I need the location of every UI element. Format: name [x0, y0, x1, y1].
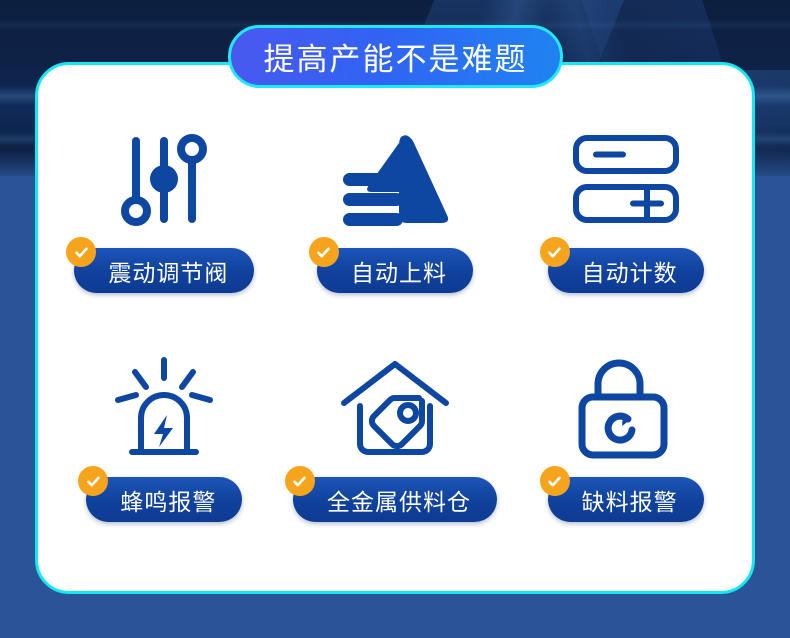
check-icon — [285, 466, 315, 496]
feature-item-auto-feeding[interactable]: 自动上料 — [280, 114, 511, 343]
feature-label: 自动上料 — [351, 254, 447, 288]
stacked-feed-icon — [339, 114, 451, 244]
feature-label: 蜂鸣报警 — [120, 483, 216, 517]
feature-label-row: 缺料报警 — [548, 477, 704, 522]
feature-label-pill[interactable]: 自动上料 — [317, 248, 473, 293]
page-title: 提高产能不是难题 — [264, 34, 528, 79]
feature-label-row: 震动调节阀 — [74, 248, 254, 293]
feature-label-pill[interactable]: 震动调节阀 — [74, 248, 254, 293]
house-tag-icon — [340, 343, 450, 473]
check-icon — [540, 466, 570, 496]
feature-label-pill[interactable]: 自动计数 — [548, 248, 704, 293]
feature-label-row: 自动计数 — [548, 248, 704, 293]
feature-item-auto-counting[interactable]: 自动计数 — [510, 114, 741, 343]
plus-minus-icon — [571, 114, 681, 244]
feature-item-vibration-valve[interactable]: 震动调节阀 — [49, 114, 280, 343]
check-icon — [309, 237, 339, 267]
feature-label-row: 蜂鸣报警 — [86, 477, 242, 522]
feature-item-shortage-alarm[interactable]: 缺料报警 — [510, 343, 741, 572]
feature-label-row: 自动上料 — [317, 248, 473, 293]
siren-alarm-icon — [110, 343, 218, 473]
feature-label: 自动计数 — [582, 254, 678, 288]
feature-label: 震动调节阀 — [108, 254, 228, 288]
feature-item-buzzer-alarm[interactable]: 蜂鸣报警 — [49, 343, 280, 572]
feature-label-row: 全金属供料仓 — [293, 477, 497, 522]
feature-grid: 震动调节阀 自动上料 — [35, 62, 755, 594]
open-lock-icon — [576, 343, 676, 473]
feature-label-pill[interactable]: 蜂鸣报警 — [86, 477, 242, 522]
feature-label: 缺料报警 — [582, 483, 678, 517]
feature-label: 全金属供料仓 — [327, 483, 471, 517]
feature-label-pill[interactable]: 缺料报警 — [548, 477, 704, 522]
feature-item-metal-hopper[interactable]: 全金属供料仓 — [280, 343, 511, 572]
feature-label-pill[interactable]: 全金属供料仓 — [293, 477, 497, 522]
page-title-pill: 提高产能不是难题 — [228, 25, 563, 88]
promo-feature-banner: 提高产能不是难题 — [0, 0, 790, 638]
check-icon — [540, 237, 570, 267]
sliders-icon — [112, 114, 216, 244]
